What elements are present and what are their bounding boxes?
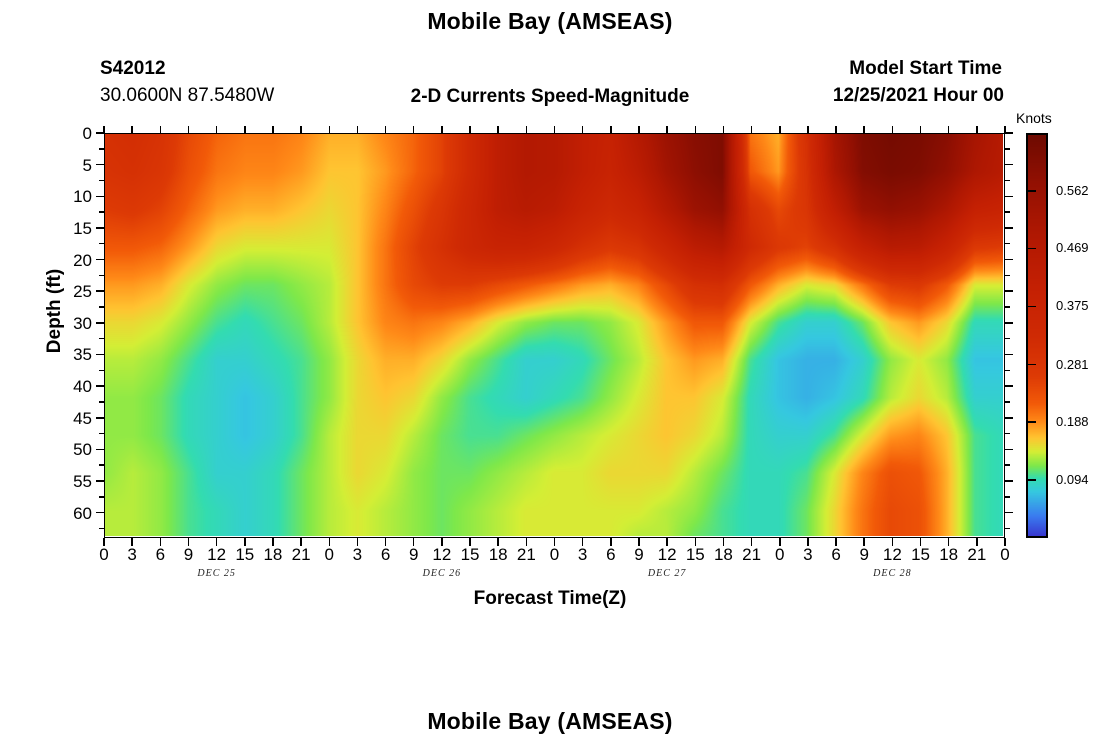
y-tick-mark	[96, 512, 104, 514]
y-minor-tick-mark	[99, 338, 104, 340]
y-minor-tick-mark	[99, 464, 104, 466]
x-day-label: DEC 28	[832, 568, 952, 579]
x-tick-mark	[920, 126, 922, 134]
y-tick-mark	[96, 290, 104, 292]
colorbar-tick-label: 0.469	[1056, 241, 1100, 254]
x-tick-mark	[357, 538, 359, 546]
y-minor-tick-mark	[99, 401, 104, 403]
x-tick-mark	[103, 126, 105, 134]
x-tick-mark	[216, 538, 218, 546]
x-tick-mark	[638, 538, 640, 546]
y-tick-mark	[96, 322, 104, 324]
x-tick-mark	[272, 538, 274, 546]
y-tick-mark	[1005, 512, 1013, 514]
x-tick-mark	[863, 538, 865, 546]
x-tick-mark	[385, 538, 387, 546]
x-tick-mark	[188, 538, 190, 546]
y-tick-mark	[96, 259, 104, 261]
x-tick-mark	[357, 126, 359, 134]
y-minor-tick-mark	[1005, 180, 1010, 182]
y-tick-mark	[1005, 196, 1013, 198]
colorbar-tick-label: 0.375	[1056, 299, 1100, 312]
footer-title: Mobile Bay (AMSEAS)	[0, 708, 1100, 735]
y-tick-mark	[1005, 259, 1013, 261]
x-tick-mark	[160, 538, 162, 546]
y-tick-label: 45	[32, 410, 92, 427]
y-minor-tick-mark	[99, 528, 104, 530]
y-tick-mark	[1005, 227, 1013, 229]
x-tick-mark	[526, 126, 528, 134]
y-minor-tick-mark	[1005, 211, 1010, 213]
x-tick-mark	[554, 126, 556, 134]
x-axis-title: Forecast Time(Z)	[0, 588, 1100, 610]
x-tick-mark	[976, 126, 978, 134]
x-tick-mark	[329, 538, 331, 546]
y-tick-label: 40	[32, 378, 92, 395]
y-tick-label: 30	[32, 315, 92, 332]
y-minor-tick-mark	[99, 243, 104, 245]
x-tick-mark	[723, 126, 725, 134]
colorbar-tick-mark	[1026, 421, 1036, 422]
colorbar-tick-label: 0.562	[1056, 184, 1100, 197]
x-tick-mark	[526, 538, 528, 546]
x-tick-mark	[188, 126, 190, 134]
x-tick-mark	[300, 126, 302, 134]
y-minor-tick-mark	[1005, 243, 1010, 245]
x-tick-mark	[666, 126, 668, 134]
y-tick-label: 10	[32, 188, 92, 205]
y-minor-tick-mark	[99, 148, 104, 150]
y-minor-tick-mark	[1005, 148, 1010, 150]
y-tick-label: 0	[32, 125, 92, 142]
x-tick-mark	[272, 126, 274, 134]
x-tick-mark	[723, 538, 725, 546]
x-tick-mark	[497, 126, 499, 134]
x-tick-mark	[582, 126, 584, 134]
x-tick-mark	[779, 538, 781, 546]
y-tick-mark	[96, 354, 104, 356]
colorbar-tick-label: 0.094	[1056, 473, 1100, 486]
x-day-label: DEC 27	[607, 568, 727, 579]
y-minor-tick-mark	[1005, 275, 1010, 277]
x-tick-mark	[751, 538, 753, 546]
x-tick-mark	[497, 538, 499, 546]
x-tick-mark	[413, 538, 415, 546]
x-tick-mark	[244, 126, 246, 134]
x-tick-mark	[892, 126, 894, 134]
colorbar-tick-mark	[1026, 248, 1036, 249]
y-tick-mark	[96, 449, 104, 451]
y-tick-mark	[96, 385, 104, 387]
x-tick-mark	[103, 538, 105, 546]
y-tick-mark	[1005, 132, 1013, 134]
x-tick-mark	[835, 126, 837, 134]
x-tick-mark	[413, 126, 415, 134]
x-tick-mark	[441, 126, 443, 134]
x-tick-mark	[779, 126, 781, 134]
x-tick-mark	[469, 126, 471, 134]
y-tick-label: 5	[32, 157, 92, 174]
colorbar-tick-label: 0.188	[1056, 415, 1100, 428]
x-tick-mark	[863, 126, 865, 134]
y-tick-mark	[1005, 354, 1013, 356]
x-tick-mark	[160, 126, 162, 134]
y-tick-label: 25	[32, 283, 92, 300]
heatmap-plot-area	[104, 133, 1005, 538]
x-tick-mark	[441, 538, 443, 546]
x-tick-mark	[610, 538, 612, 546]
x-tick-mark	[948, 126, 950, 134]
y-minor-tick-mark	[1005, 433, 1010, 435]
x-tick-mark	[920, 538, 922, 546]
y-minor-tick-mark	[1005, 401, 1010, 403]
x-tick-mark	[300, 538, 302, 546]
y-minor-tick-mark	[1005, 528, 1010, 530]
heatmap-canvas	[105, 134, 1003, 536]
y-tick-label: 50	[32, 441, 92, 458]
y-minor-tick-mark	[99, 180, 104, 182]
colorbar-canvas	[1028, 135, 1046, 536]
plot-subtitle: 2-D Currents Speed-Magnitude	[0, 86, 1100, 108]
y-minor-tick-mark	[1005, 338, 1010, 340]
x-tick-mark	[244, 538, 246, 546]
x-tick-mark	[1004, 538, 1006, 546]
x-tick-mark	[666, 538, 668, 546]
y-tick-mark	[1005, 449, 1013, 451]
x-day-label: DEC 25	[157, 568, 277, 579]
y-tick-label: 15	[32, 220, 92, 237]
x-tick-mark	[892, 538, 894, 546]
y-tick-mark	[96, 227, 104, 229]
colorbar-tick-mark	[1026, 306, 1036, 307]
y-minor-tick-mark	[1005, 306, 1010, 308]
y-tick-label: 55	[32, 473, 92, 490]
page-title: Mobile Bay (AMSEAS)	[0, 8, 1100, 35]
y-tick-label: 20	[32, 252, 92, 269]
x-tick-mark	[554, 538, 556, 546]
y-minor-tick-mark	[99, 275, 104, 277]
x-tick-mark	[610, 126, 612, 134]
y-tick-label: 60	[32, 505, 92, 522]
x-tick-mark	[948, 538, 950, 546]
x-day-label: DEC 26	[382, 568, 502, 579]
x-tick-mark	[131, 126, 133, 134]
x-tick-mark	[1004, 126, 1006, 134]
y-minor-tick-mark	[1005, 370, 1010, 372]
y-tick-label: 35	[32, 346, 92, 363]
x-tick-mark	[385, 126, 387, 134]
y-tick-mark	[1005, 290, 1013, 292]
y-minor-tick-mark	[99, 211, 104, 213]
x-tick-mark	[695, 538, 697, 546]
y-tick-mark	[1005, 322, 1013, 324]
colorbar-tick-label: 0.281	[1056, 358, 1100, 371]
x-tick-mark	[469, 538, 471, 546]
y-tick-mark	[1005, 480, 1013, 482]
y-minor-tick-mark	[99, 306, 104, 308]
colorbar-title: Knots	[1016, 110, 1086, 126]
y-tick-mark	[1005, 164, 1013, 166]
y-tick-mark	[96, 196, 104, 198]
x-tick-mark	[638, 126, 640, 134]
y-minor-tick-mark	[99, 496, 104, 498]
y-minor-tick-mark	[99, 433, 104, 435]
x-tick-mark	[582, 538, 584, 546]
y-tick-mark	[96, 164, 104, 166]
colorbar	[1026, 133, 1048, 538]
x-tick-mark	[216, 126, 218, 134]
x-tick-mark	[807, 538, 809, 546]
colorbar-tick-mark	[1026, 479, 1036, 480]
x-tick-mark	[751, 126, 753, 134]
x-tick-mark	[976, 538, 978, 546]
y-minor-tick-mark	[1005, 464, 1010, 466]
y-minor-tick-mark	[99, 370, 104, 372]
x-tick-mark	[131, 538, 133, 546]
y-tick-mark	[96, 480, 104, 482]
colorbar-tick-mark	[1026, 364, 1036, 365]
x-tick-mark	[329, 126, 331, 134]
x-tick-mark	[695, 126, 697, 134]
colorbar-tick-mark	[1026, 190, 1036, 191]
y-tick-mark	[96, 417, 104, 419]
y-minor-tick-mark	[1005, 496, 1010, 498]
model-start-time-label: Model Start Time	[0, 58, 1002, 80]
x-tick-mark	[835, 538, 837, 546]
x-tick-mark	[807, 126, 809, 134]
y-tick-mark	[1005, 417, 1013, 419]
y-tick-mark	[1005, 385, 1013, 387]
x-tick-label: 0	[985, 546, 1025, 563]
